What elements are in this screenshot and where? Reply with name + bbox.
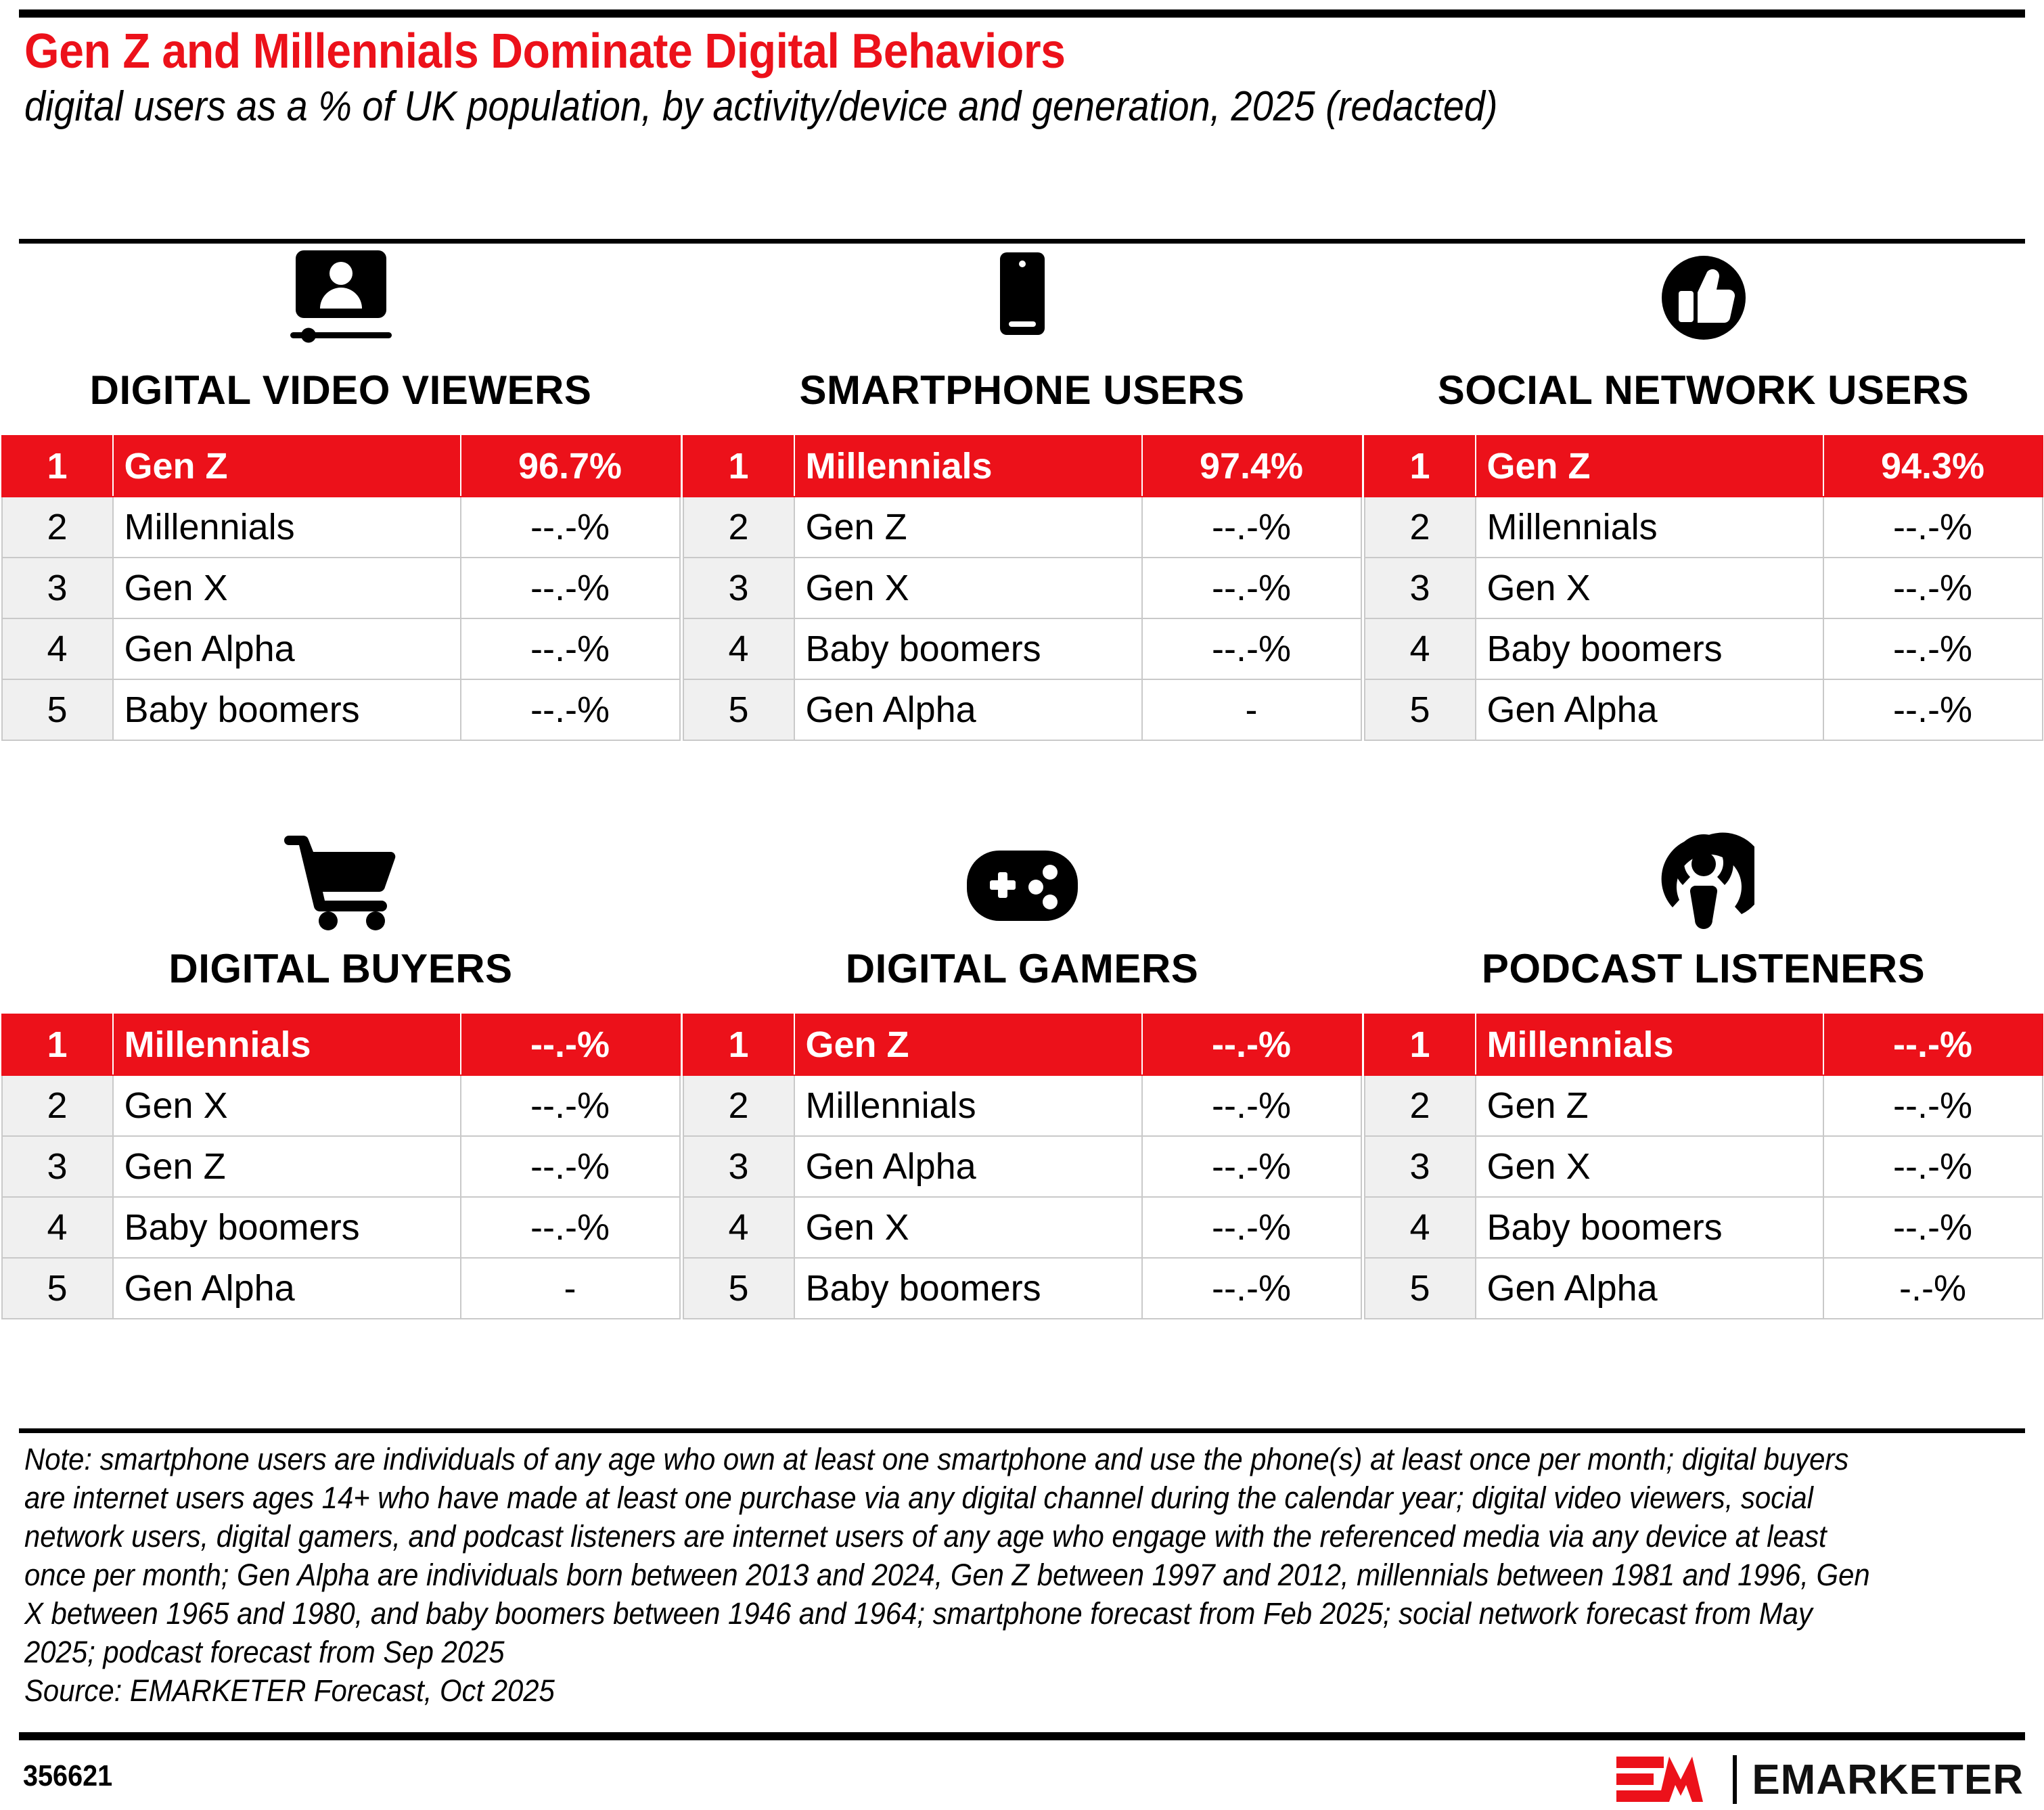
table-row: 5Gen Alpha--.-%: [1365, 679, 2043, 740]
top-rule: [19, 9, 2025, 18]
value-cell: --.-%: [1823, 618, 2043, 679]
brand-name: EMARKETER: [1752, 1756, 2024, 1804]
rank-cell: 5: [683, 1258, 794, 1319]
note-divider-rule: [19, 1428, 2025, 1433]
rank-cell: 4: [683, 1197, 794, 1258]
generation-cell: Gen Alpha: [794, 1136, 1142, 1197]
panel-digital-gamers: DIGITAL GAMERS1Gen Z--.-%2Millennials--.…: [681, 836, 1363, 1414]
generation-cell: Gen Alpha: [113, 1258, 461, 1319]
value-cell: --.-%: [1823, 1136, 2043, 1197]
value-cell: --.-%: [1142, 618, 1361, 679]
table-row: 1Millennials--.-%: [2, 1014, 680, 1075]
table-row: 4Gen Alpha--.-%: [2, 618, 680, 679]
table-row: 5Baby boomers--.-%: [2, 679, 680, 740]
shopping-cart-icon: [283, 849, 399, 930]
rank-cell: 3: [1365, 558, 1476, 618]
table-row: 5Gen Alpha-: [2, 1258, 680, 1319]
table-row: 3Gen X--.-%: [2, 558, 680, 618]
value-cell: 97.4%: [1142, 436, 1361, 497]
generation-cell: Baby boomers: [1476, 618, 1823, 679]
title-divider-rule: [19, 239, 2025, 244]
panel-grid: DIGITAL VIDEO VIEWERS1Gen Z96.7%2Millenn…: [0, 257, 2044, 1414]
value-cell: --.-%: [1142, 1014, 1361, 1075]
table-row: 2Gen Z--.-%: [683, 497, 1361, 558]
rank-cell: 3: [683, 558, 794, 618]
rank-cell: 4: [683, 618, 794, 679]
table-row: 1Millennials97.4%: [683, 436, 1361, 497]
rank-cell: 1: [1365, 1014, 1476, 1075]
table-row: 4Baby boomers--.-%: [683, 618, 1361, 679]
value-cell: --.-%: [461, 1014, 680, 1075]
value-cell: --.-%: [461, 558, 680, 618]
rank-cell: 2: [683, 497, 794, 558]
value-cell: --.-%: [1823, 679, 2043, 740]
page-subtitle: digital users as a % of UK population, b…: [24, 83, 1851, 131]
generation-cell: Gen Z: [113, 1136, 461, 1197]
value-cell: -: [461, 1258, 680, 1319]
panel-smartphone-users: SMARTPHONE USERS1Millennials97.4%2Gen Z-…: [681, 257, 1363, 836]
value-cell: -.-%: [1823, 1258, 2043, 1319]
rank-cell: 4: [1365, 618, 1476, 679]
ranking-table: 1Gen Z96.7%2Millennials--.-%3Gen X--.-%4…: [1, 435, 681, 741]
generation-cell: Gen Z: [1476, 1075, 1823, 1136]
rank-cell: 4: [2, 618, 113, 679]
ranking-table: 1Gen Z94.3%2Millennials--.-%3Gen X--.-%4…: [1364, 435, 2043, 741]
rank-cell: 2: [2, 1075, 113, 1136]
value-cell: --.-%: [1823, 558, 2043, 618]
value-cell: --.-%: [1142, 1197, 1361, 1258]
value-cell: --.-%: [461, 497, 680, 558]
footnote-text: Note: smartphone users are individuals o…: [24, 1440, 1887, 1671]
ranking-table: 1Millennials--.-%2Gen Z--.-%3Gen X--.-%4…: [1364, 1014, 2043, 1319]
table-row: 1Gen Z--.-%: [683, 1014, 1361, 1075]
panel-title: DIGITAL VIDEO VIEWERS: [90, 367, 592, 413]
table-row: 5Baby boomers--.-%: [683, 1258, 1361, 1319]
rank-cell: 1: [683, 436, 794, 497]
panel-podcast-listeners: PODCAST LISTENERS1Millennials--.-%2Gen Z…: [1363, 836, 2044, 1414]
generation-cell: Gen X: [1476, 558, 1823, 618]
generation-cell: Baby boomers: [1476, 1197, 1823, 1258]
panel-title: SOCIAL NETWORK USERS: [1438, 367, 1970, 413]
generation-cell: Baby boomers: [113, 1197, 461, 1258]
table-row: 2Millennials--.-%: [1365, 497, 2043, 558]
ranking-table: 1Gen Z--.-%2Millennials--.-%3Gen Alpha--…: [683, 1014, 1362, 1319]
rank-cell: 5: [2, 679, 113, 740]
value-cell: --.-%: [461, 1136, 680, 1197]
table-row: 2Gen Z--.-%: [1365, 1075, 2043, 1136]
table-row: 2Millennials--.-%: [2, 497, 680, 558]
value-cell: 94.3%: [1823, 436, 2043, 497]
logo-divider: [1733, 1755, 1737, 1804]
table-row: 4Baby boomers--.-%: [2, 1197, 680, 1258]
source-text: Source: EMARKETER Forecast, Oct 2025: [24, 1671, 1887, 1710]
generation-cell: Baby boomers: [794, 618, 1142, 679]
table-row: 4Baby boomers--.-%: [1365, 618, 2043, 679]
rank-cell: 3: [683, 1136, 794, 1197]
value-cell: --.-%: [461, 1197, 680, 1258]
generation-cell: Millennials: [113, 1014, 461, 1075]
table-row: 3Gen X--.-%: [683, 558, 1361, 618]
game-controller-icon: [961, 849, 1083, 930]
rank-cell: 3: [1365, 1136, 1476, 1197]
rank-cell: 4: [1365, 1197, 1476, 1258]
rank-cell: 4: [2, 1197, 113, 1258]
value-cell: --.-%: [1823, 497, 2043, 558]
rank-cell: 2: [2, 497, 113, 558]
table-row: 4Baby boomers--.-%: [1365, 1197, 2043, 1258]
rank-cell: 3: [2, 558, 113, 618]
table-row: 1Gen Z94.3%: [1365, 436, 2043, 497]
rank-cell: 2: [1365, 1075, 1476, 1136]
value-cell: --.-%: [461, 1075, 680, 1136]
generation-cell: Gen Alpha: [794, 679, 1142, 740]
table-row: 2Gen X--.-%: [2, 1075, 680, 1136]
value-cell: --.-%: [1823, 1014, 2043, 1075]
emarketer-logo: EMARKETER: [1616, 1752, 2024, 1807]
generation-cell: Millennials: [794, 436, 1142, 497]
value-cell: --.-%: [1823, 1075, 2043, 1136]
generation-cell: Millennials: [1476, 1014, 1823, 1075]
table-row: 3Gen X--.-%: [1365, 558, 2043, 618]
rank-cell: 5: [683, 679, 794, 740]
thumbs-up-icon: [1653, 271, 1754, 352]
table-row: 3Gen Alpha--.-%: [683, 1136, 1361, 1197]
table-row: 5Gen Alpha-: [683, 679, 1361, 740]
generation-cell: Gen X: [794, 1197, 1142, 1258]
value-cell: --.-%: [1823, 1197, 2043, 1258]
value-cell: --.-%: [1142, 497, 1361, 558]
rank-cell: 5: [2, 1258, 113, 1319]
rank-cell: 1: [683, 1014, 794, 1075]
panel-social-network-users: SOCIAL NETWORK USERS1Gen Z94.3%2Millenni…: [1363, 257, 2044, 836]
generation-cell: Gen Z: [113, 436, 461, 497]
rank-cell: 2: [683, 1075, 794, 1136]
rank-cell: 1: [2, 1014, 113, 1075]
value-cell: 96.7%: [461, 436, 680, 497]
generation-cell: Millennials: [794, 1075, 1142, 1136]
table-row: 4Gen X--.-%: [683, 1197, 1361, 1258]
ranking-table: 1Millennials--.-%2Gen X--.-%3Gen Z--.-%4…: [1, 1014, 681, 1319]
panel-title: SMARTPHONE USERS: [799, 367, 1244, 413]
panel-digital-buyers: DIGITAL BUYERS1Millennials--.-%2Gen X--.…: [0, 836, 681, 1414]
rank-cell: 1: [2, 436, 113, 497]
page-title: Gen Z and Millennials Dominate Digital B…: [24, 26, 1861, 77]
em-mark-icon: [1616, 1752, 1718, 1807]
generation-cell: Gen Alpha: [113, 618, 461, 679]
rank-cell: 5: [1365, 679, 1476, 740]
generation-cell: Gen X: [794, 558, 1142, 618]
table-row: 5Gen Alpha-.-%: [1365, 1258, 2043, 1319]
table-row: 1Gen Z96.7%: [2, 436, 680, 497]
value-cell: -: [1142, 679, 1361, 740]
generation-cell: Millennials: [1476, 497, 1823, 558]
rank-cell: 1: [1365, 436, 1476, 497]
generation-cell: Gen X: [1476, 1136, 1823, 1197]
ranking-table: 1Millennials97.4%2Gen Z--.-%3Gen X--.-%4…: [683, 435, 1362, 741]
panel-title: DIGITAL BUYERS: [168, 945, 512, 992]
generation-cell: Gen Alpha: [1476, 1258, 1823, 1319]
panel-title: PODCAST LISTENERS: [1482, 945, 1925, 992]
generation-cell: Gen Alpha: [1476, 679, 1823, 740]
generation-cell: Gen Z: [794, 1014, 1142, 1075]
footer-rule: [19, 1732, 2025, 1740]
smartphone-icon: [985, 271, 1060, 352]
generation-cell: Millennials: [113, 497, 461, 558]
table-row: 3Gen X--.-%: [1365, 1136, 2043, 1197]
rank-cell: 2: [1365, 497, 1476, 558]
generation-cell: Gen X: [113, 1075, 461, 1136]
value-cell: --.-%: [1142, 558, 1361, 618]
generation-cell: Baby boomers: [794, 1258, 1142, 1319]
value-cell: --.-%: [1142, 1136, 1361, 1197]
rank-cell: 5: [1365, 1258, 1476, 1319]
rank-cell: 3: [2, 1136, 113, 1197]
generation-cell: Gen Z: [1476, 436, 1823, 497]
value-cell: --.-%: [461, 618, 680, 679]
value-cell: --.-%: [1142, 1258, 1361, 1319]
table-row: 1Millennials--.-%: [1365, 1014, 2043, 1075]
value-cell: --.-%: [1142, 1075, 1361, 1136]
table-row: 2Millennials--.-%: [683, 1075, 1361, 1136]
panel-title: DIGITAL GAMERS: [846, 945, 1198, 992]
panel-digital-video-viewers: DIGITAL VIDEO VIEWERS1Gen Z96.7%2Millenn…: [0, 257, 681, 836]
generation-cell: Gen Z: [794, 497, 1142, 558]
value-cell: --.-%: [461, 679, 680, 740]
generation-cell: Baby boomers: [113, 679, 461, 740]
generation-cell: Gen X: [113, 558, 461, 618]
podcast-icon: [1653, 849, 1754, 930]
report-id: 356621: [23, 1759, 112, 1793]
footnote-block: Note: smartphone users are individuals o…: [24, 1440, 1887, 1710]
video-player-icon: [277, 271, 405, 352]
table-row: 3Gen Z--.-%: [2, 1136, 680, 1197]
